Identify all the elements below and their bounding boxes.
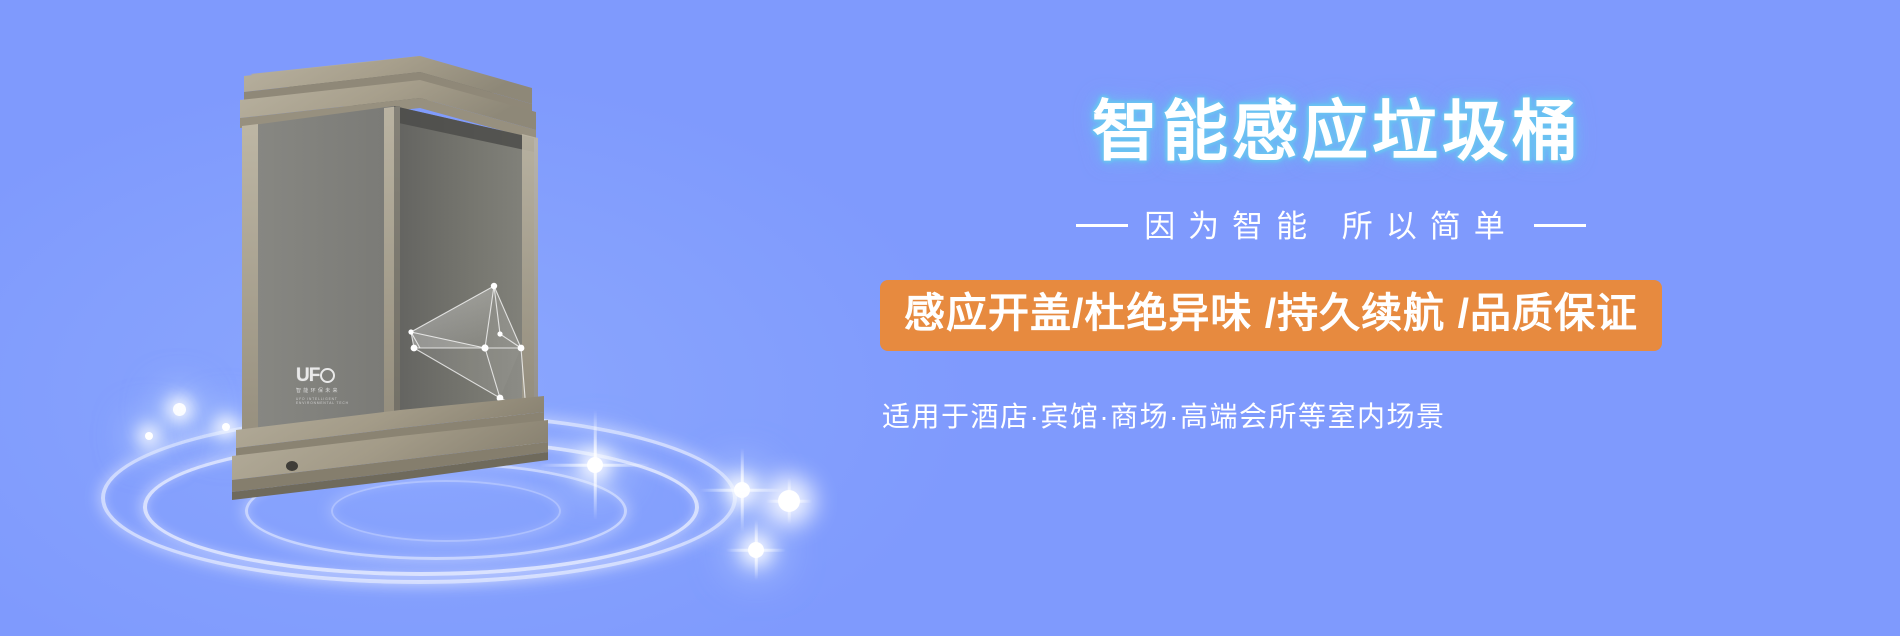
brand-wordmark: UF [296,366,366,385]
product-hero-banner: UF 智能环保未来 UFO INTELLIGENT ENVIRONMENTAL … [0,0,1900,636]
marketing-copy-block: 智能感应垃圾桶 因为智能 所以简单 感应开盖/杜绝异味 /持久续航 /品质保证 … [880,96,1760,435]
rule-right-icon [1534,224,1586,227]
light-ring-inner [331,480,561,542]
brand-o-icon [320,368,335,383]
ring-glow-dot-1 [173,403,186,416]
headline-title: 智能感应垃圾桶 [914,96,1760,167]
rule-left-icon [1076,224,1128,227]
brand-sub-cn: 智能环保未来 [296,387,366,394]
subtitle-text: 因为智能 所以简单 [1144,209,1518,244]
scenes-text: 适用于酒店·宾馆·商场·高端会所等室内场景 [882,395,1760,435]
brand-sub-en: UFO INTELLIGENT ENVIRONMENTAL TECH [296,397,366,405]
brand-wordmark-text: UF [296,365,319,386]
smart-trash-bin-illustration [208,48,568,488]
features-badge: 感应开盖/杜绝异味 /持久续航 /品质保证 [880,280,1662,351]
features-badge-wrap: 感应开盖/杜绝异味 /持久续航 /品质保证 [880,280,1760,351]
headline-subtitle: 因为智能 所以简单 [902,201,1760,246]
product-image: UF 智能环保未来 UFO INTELLIGENT ENVIRONMENTAL … [208,48,568,488]
sparkle-glow-dot [766,478,812,524]
brand-logo: UF 智能环保未来 UFO INTELLIGENT ENVIRONMENTAL … [296,366,366,412]
ring-glow-dot-2 [145,432,153,440]
